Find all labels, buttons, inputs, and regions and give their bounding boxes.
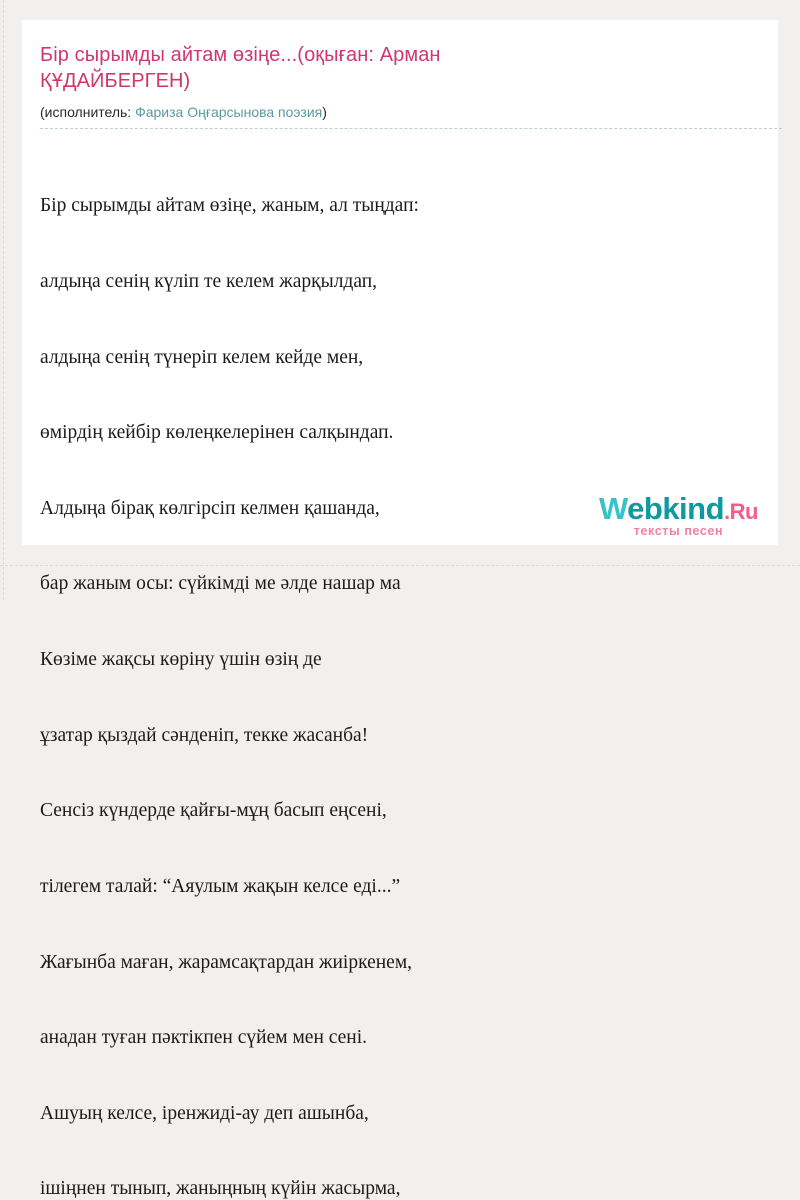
lyrics-line: Сенсіз күндерде қайғы-мұң басып еңсені, bbox=[40, 798, 760, 823]
lyrics-line: Ашуың келсе, іренжиді-ау деп ашынба, bbox=[40, 1101, 760, 1126]
lyrics-line: Көзіме жақсы көріну үшін өзің де bbox=[40, 647, 760, 672]
lyrics-line: өмірдің кейбір көлеңкелерінен салқындап. bbox=[40, 420, 760, 445]
performer-suffix-label: ) bbox=[322, 104, 327, 120]
song-card: Бір сырымды айтам өзіңе...(оқыған: Арман… bbox=[22, 20, 778, 545]
lyrics-line: Бір сырымды айтам өзіңе, жаным, ал тыңда… bbox=[40, 193, 760, 218]
performer-link[interactable]: Фариза Оңғарсынова поэзия bbox=[135, 104, 322, 120]
logo-tagline: тексты песен bbox=[599, 525, 758, 538]
logo-word-rest: ebkind bbox=[627, 491, 724, 526]
lyrics-line: Жағынба маған, жарамсақтардан жиіркенем, bbox=[40, 950, 760, 975]
card-content: Бір сырымды айтам өзіңе...(оқыған: Арман… bbox=[22, 20, 778, 1200]
lyrics-line: тілегем талай: “Аяулым жақын келсе еді..… bbox=[40, 874, 760, 899]
lyrics-line: алдыңа сенің күліп те келем жарқылдап, bbox=[40, 269, 760, 294]
lyrics-line: бар жаным осы: сүйкімді ме әлде нашар ма bbox=[40, 571, 760, 596]
site-logo[interactable]: Webkind.Ru тексты песен bbox=[599, 493, 758, 538]
performer-line: (исполнитель: Фариза Оңғарсынова поэзия) bbox=[40, 104, 782, 129]
logo-domain-suffix: .Ru bbox=[724, 499, 758, 524]
lyrics-line: ішіңнен тынып, жаныңның күйін жасырма, bbox=[40, 1176, 760, 1200]
performer-prefix-label: (исполнитель: bbox=[40, 104, 135, 120]
lyrics-line: алдыңа сенің түнеріп келем кейде мен, bbox=[40, 345, 760, 370]
lyrics-line: ұзатар қыздай сәнденіп, текке жасанба! bbox=[40, 723, 760, 748]
logo-wordmark: Webkind.Ru bbox=[599, 493, 758, 524]
lyrics-body: Бір сырымды айтам өзіңе, жаным, ал тыңда… bbox=[40, 143, 760, 1200]
lyrics-line: анадан туған пәктікпен сүйем мен сені. bbox=[40, 1025, 760, 1050]
left-edge-rule bbox=[3, 0, 4, 600]
page-title: Бір сырымды айтам өзіңе...(оқыған: Арман… bbox=[40, 42, 540, 94]
logo-letter-w: W bbox=[599, 491, 627, 526]
